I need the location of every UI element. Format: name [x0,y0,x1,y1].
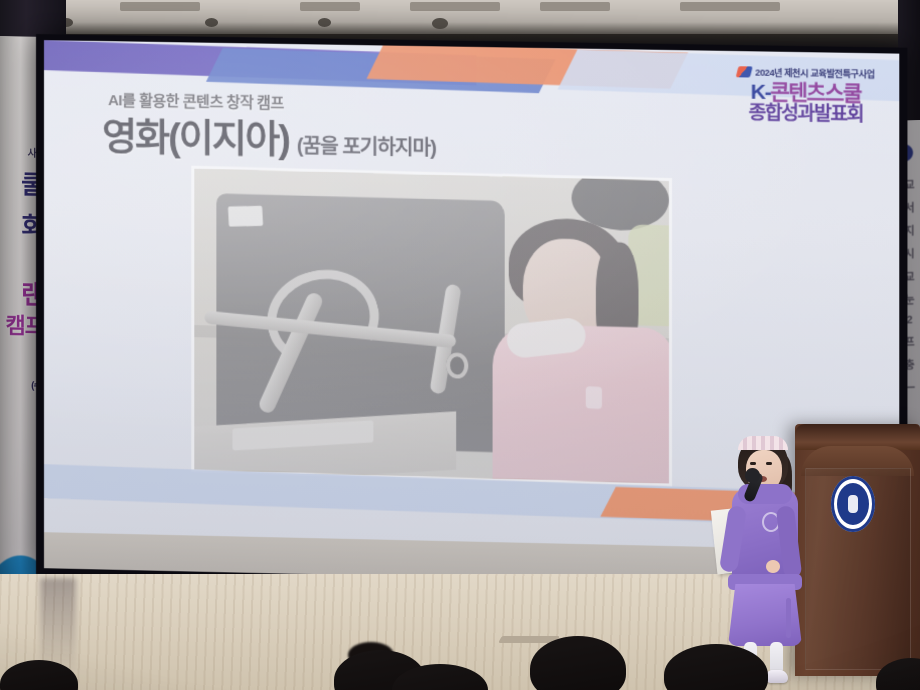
logo-event-name: 종합성과발표회 [737,104,875,127]
photo-projection-veil [194,169,669,484]
event-logo: 2024년 제천시 교육발전특구사업 K-콘텐츠스쿨 종합성과발표회 [737,65,875,127]
slide-photo [194,169,669,484]
slide-title-row: 영화(이지아) (꿈을 포기하지마) [102,105,436,166]
auditorium-scene: 사업 쿨 회 랜 캠프 (수) 교 서 지 시 교 눈 2 프 충 一 [0,0,920,690]
emblem-inner [837,483,869,525]
slide-title: 영화(이지아) [102,105,289,163]
skirt-tie [786,598,791,638]
logo-tagline: 2024년 제천시 교육발전특구사업 [755,65,875,80]
presenter-hand [766,560,780,573]
school-emblem-icon [831,476,875,532]
ceiling-light [205,18,218,27]
logo-name-rest: 콘텐츠스쿨 [770,81,861,106]
ceiling-light [432,18,448,29]
flower-headband [738,436,788,450]
presenter-eye [766,462,772,465]
presenter-eye [750,462,756,465]
emblem-glyph [848,495,858,513]
logo-name-k: K- [751,81,771,105]
presenter-student [718,432,814,682]
logo-tagline-row: 2024년 제천시 교육발전특구사업 [737,65,875,80]
microphone-head [745,468,760,483]
presenter-shoe [766,670,788,683]
slide-title-note: (꿈을 포기하지마) [297,129,436,160]
ribbon-icon [736,66,753,77]
ceiling-light [318,18,331,27]
